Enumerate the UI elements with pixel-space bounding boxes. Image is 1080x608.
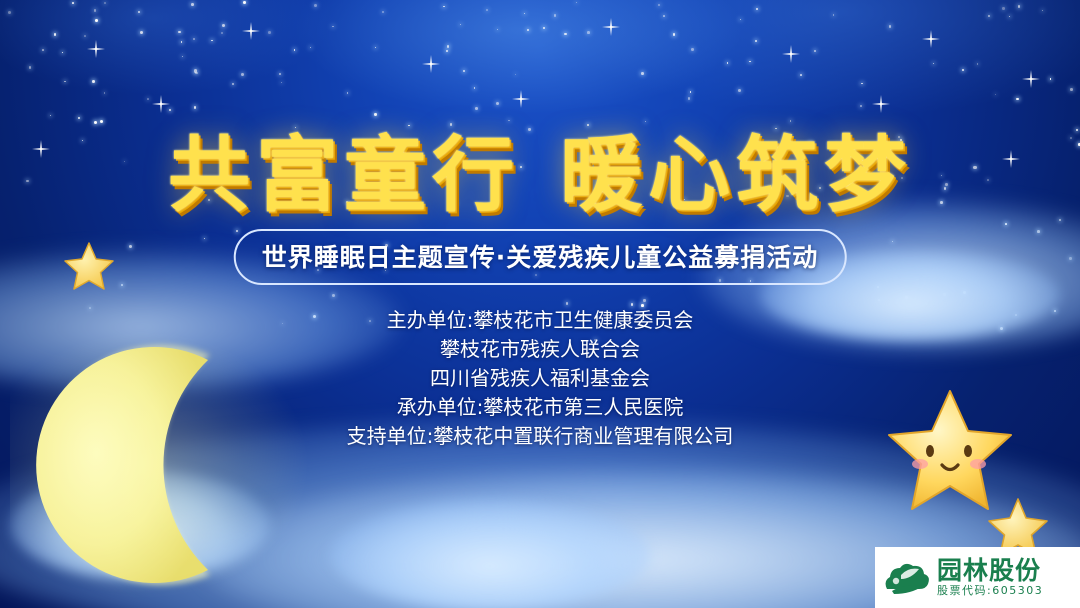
star-dot (94, 9, 97, 12)
star-dot (222, 24, 225, 27)
star-dot (576, 2, 577, 3)
star-dot (740, 19, 741, 20)
star-dot (889, 25, 891, 27)
subtitle-badge: 世界睡眠日主题宣传·关爱残疾儿童公益募捐活动 (234, 229, 847, 285)
star-dot (29, 66, 31, 68)
star-dot (527, 29, 529, 31)
logo-company-name: 园林股份 (937, 557, 1043, 584)
star-dot (977, 63, 979, 65)
star-dot (878, 299, 880, 301)
star-dot (211, 40, 213, 42)
organizer-line: 四川省残疾人福利基金会 (0, 364, 1080, 393)
star-dot (446, 50, 448, 52)
star-dot (268, 31, 271, 34)
star-dot (962, 69, 964, 71)
star-dot (178, 31, 181, 34)
star-dot (988, 15, 990, 17)
star-dot (460, 24, 462, 26)
star-dot (84, 35, 86, 37)
star-dot (221, 32, 223, 34)
star-dot (281, 82, 282, 83)
star-dot (243, 1, 246, 4)
star-character-small-left (62, 240, 116, 299)
star-dot (194, 69, 197, 72)
star-dot (232, 83, 234, 85)
star-dot (236, 230, 238, 232)
star-dot (129, 245, 132, 248)
organizer-line: 主办单位:攀枝花市卫生健康委员会 (0, 306, 1080, 335)
organizer-list: 主办单位:攀枝花市卫生健康委员会 攀枝花市残疾人联合会 四川省残疾人福利基金会 … (0, 306, 1080, 451)
star-dot (691, 48, 694, 51)
star-dot (905, 296, 907, 298)
star-dot (543, 27, 545, 29)
star-dot (182, 56, 183, 57)
star-dot (1042, 10, 1044, 12)
star-dot (193, 38, 195, 40)
star-dot (861, 83, 863, 85)
star-sparkle (610, 18, 612, 36)
logo-text-block: 园林股份 股票代码:605303 (937, 557, 1043, 598)
star-dot (1009, 16, 1010, 17)
headline-left: 共富童行 (168, 128, 520, 223)
star-dot (204, 238, 205, 239)
star-dot (279, 73, 281, 75)
star-dot (566, 302, 568, 304)
star-dot (658, 4, 660, 6)
star-dot (181, 41, 183, 43)
star-dot (121, 284, 123, 286)
star-dot (474, 87, 475, 88)
star-dot (138, 11, 141, 14)
star-dot (690, 91, 692, 93)
star-dot (54, 33, 56, 35)
organizer-line: 支持单位:攀枝花中置联行商业管理有限公司 (0, 422, 1080, 451)
organizer-line: 攀枝花市残疾人联合会 (0, 335, 1080, 364)
cloud-puff-center (330, 500, 650, 608)
star-dot (727, 62, 729, 64)
star-sparkle (790, 45, 792, 63)
star-dot (375, 47, 376, 48)
star-dot (515, 74, 516, 75)
star-dot (738, 89, 741, 92)
leaf-cloud-icon (881, 555, 933, 601)
star-dot (564, 33, 567, 36)
star-dot (463, 70, 466, 73)
star-dot (943, 293, 946, 296)
star-dot (447, 45, 450, 48)
star-dot (62, 52, 64, 54)
star-dot (443, 6, 444, 7)
star-dot (1037, 230, 1040, 233)
star-dot (1069, 257, 1072, 260)
star-dot (643, 299, 645, 301)
star-dot (191, 3, 194, 6)
star-sparkle (930, 30, 932, 48)
star-dot (860, 105, 862, 107)
star-sparkle (430, 55, 432, 73)
star-sparkle (250, 22, 252, 40)
star-dot (140, 31, 143, 34)
star-dot (963, 291, 966, 294)
headline-right: 暖心筑梦 (560, 128, 912, 223)
star-dot (1070, 88, 1073, 91)
star-dot (104, 92, 106, 94)
star-sparkle (1030, 70, 1032, 88)
star-dot (800, 74, 802, 76)
star-dot (64, 81, 66, 83)
star-dot (332, 294, 335, 297)
star-dot (663, 15, 665, 17)
star-dot (756, 8, 758, 10)
star-dot (95, 19, 98, 22)
star-dot (382, 11, 384, 13)
star-dot (688, 97, 691, 100)
star-dot (241, 73, 244, 76)
star-dot (195, 72, 198, 75)
star-dot (1018, 5, 1020, 7)
star-dot (104, 2, 106, 4)
star-icon (62, 240, 116, 294)
organizer-line: 承办单位:攀枝花市第三人民医院 (0, 393, 1080, 422)
star-dot (332, 26, 333, 27)
star-dot (72, 2, 74, 4)
star-dot (310, 47, 311, 48)
star-dot (497, 29, 499, 31)
sponsor-logo: 园林股份 股票代码:605303 (875, 547, 1080, 608)
poster-canvas: 共富童行暖心筑梦 世界睡眠日主题宣传·关爱残疾儿童公益募捐活动 主办单位:攀枝花… (0, 0, 1080, 608)
star-dot (496, 102, 499, 105)
star-dot (587, 31, 590, 34)
star-dot (995, 94, 996, 95)
star-dot (347, 92, 349, 94)
star-dot (1016, 98, 1018, 100)
star-dot (524, 13, 525, 14)
star-dot (314, 4, 317, 7)
logo-stock-code: 股票代码:605303 (937, 584, 1043, 598)
star-dot (833, 14, 834, 15)
star-dot (877, 286, 879, 288)
star-dot (8, 11, 11, 14)
star-dot (641, 72, 644, 75)
star-dot (554, 14, 556, 16)
star-dot (486, 9, 488, 11)
star-dot (814, 50, 817, 53)
star-dot (147, 98, 149, 100)
star-dot (755, 40, 757, 42)
page-title: 共富童行暖心筑梦 (0, 108, 1080, 227)
star-dot (92, 80, 95, 83)
star-dot (673, 33, 675, 35)
star-dot (42, 49, 44, 51)
star-dot (294, 49, 295, 50)
star-sparkle (520, 90, 522, 108)
star-dot (892, 241, 894, 243)
star-dot (933, 63, 934, 64)
star-dot (1050, 78, 1052, 80)
star-sparkle (95, 40, 97, 58)
star-dot (749, 61, 750, 62)
star-dot (1002, 7, 1005, 10)
